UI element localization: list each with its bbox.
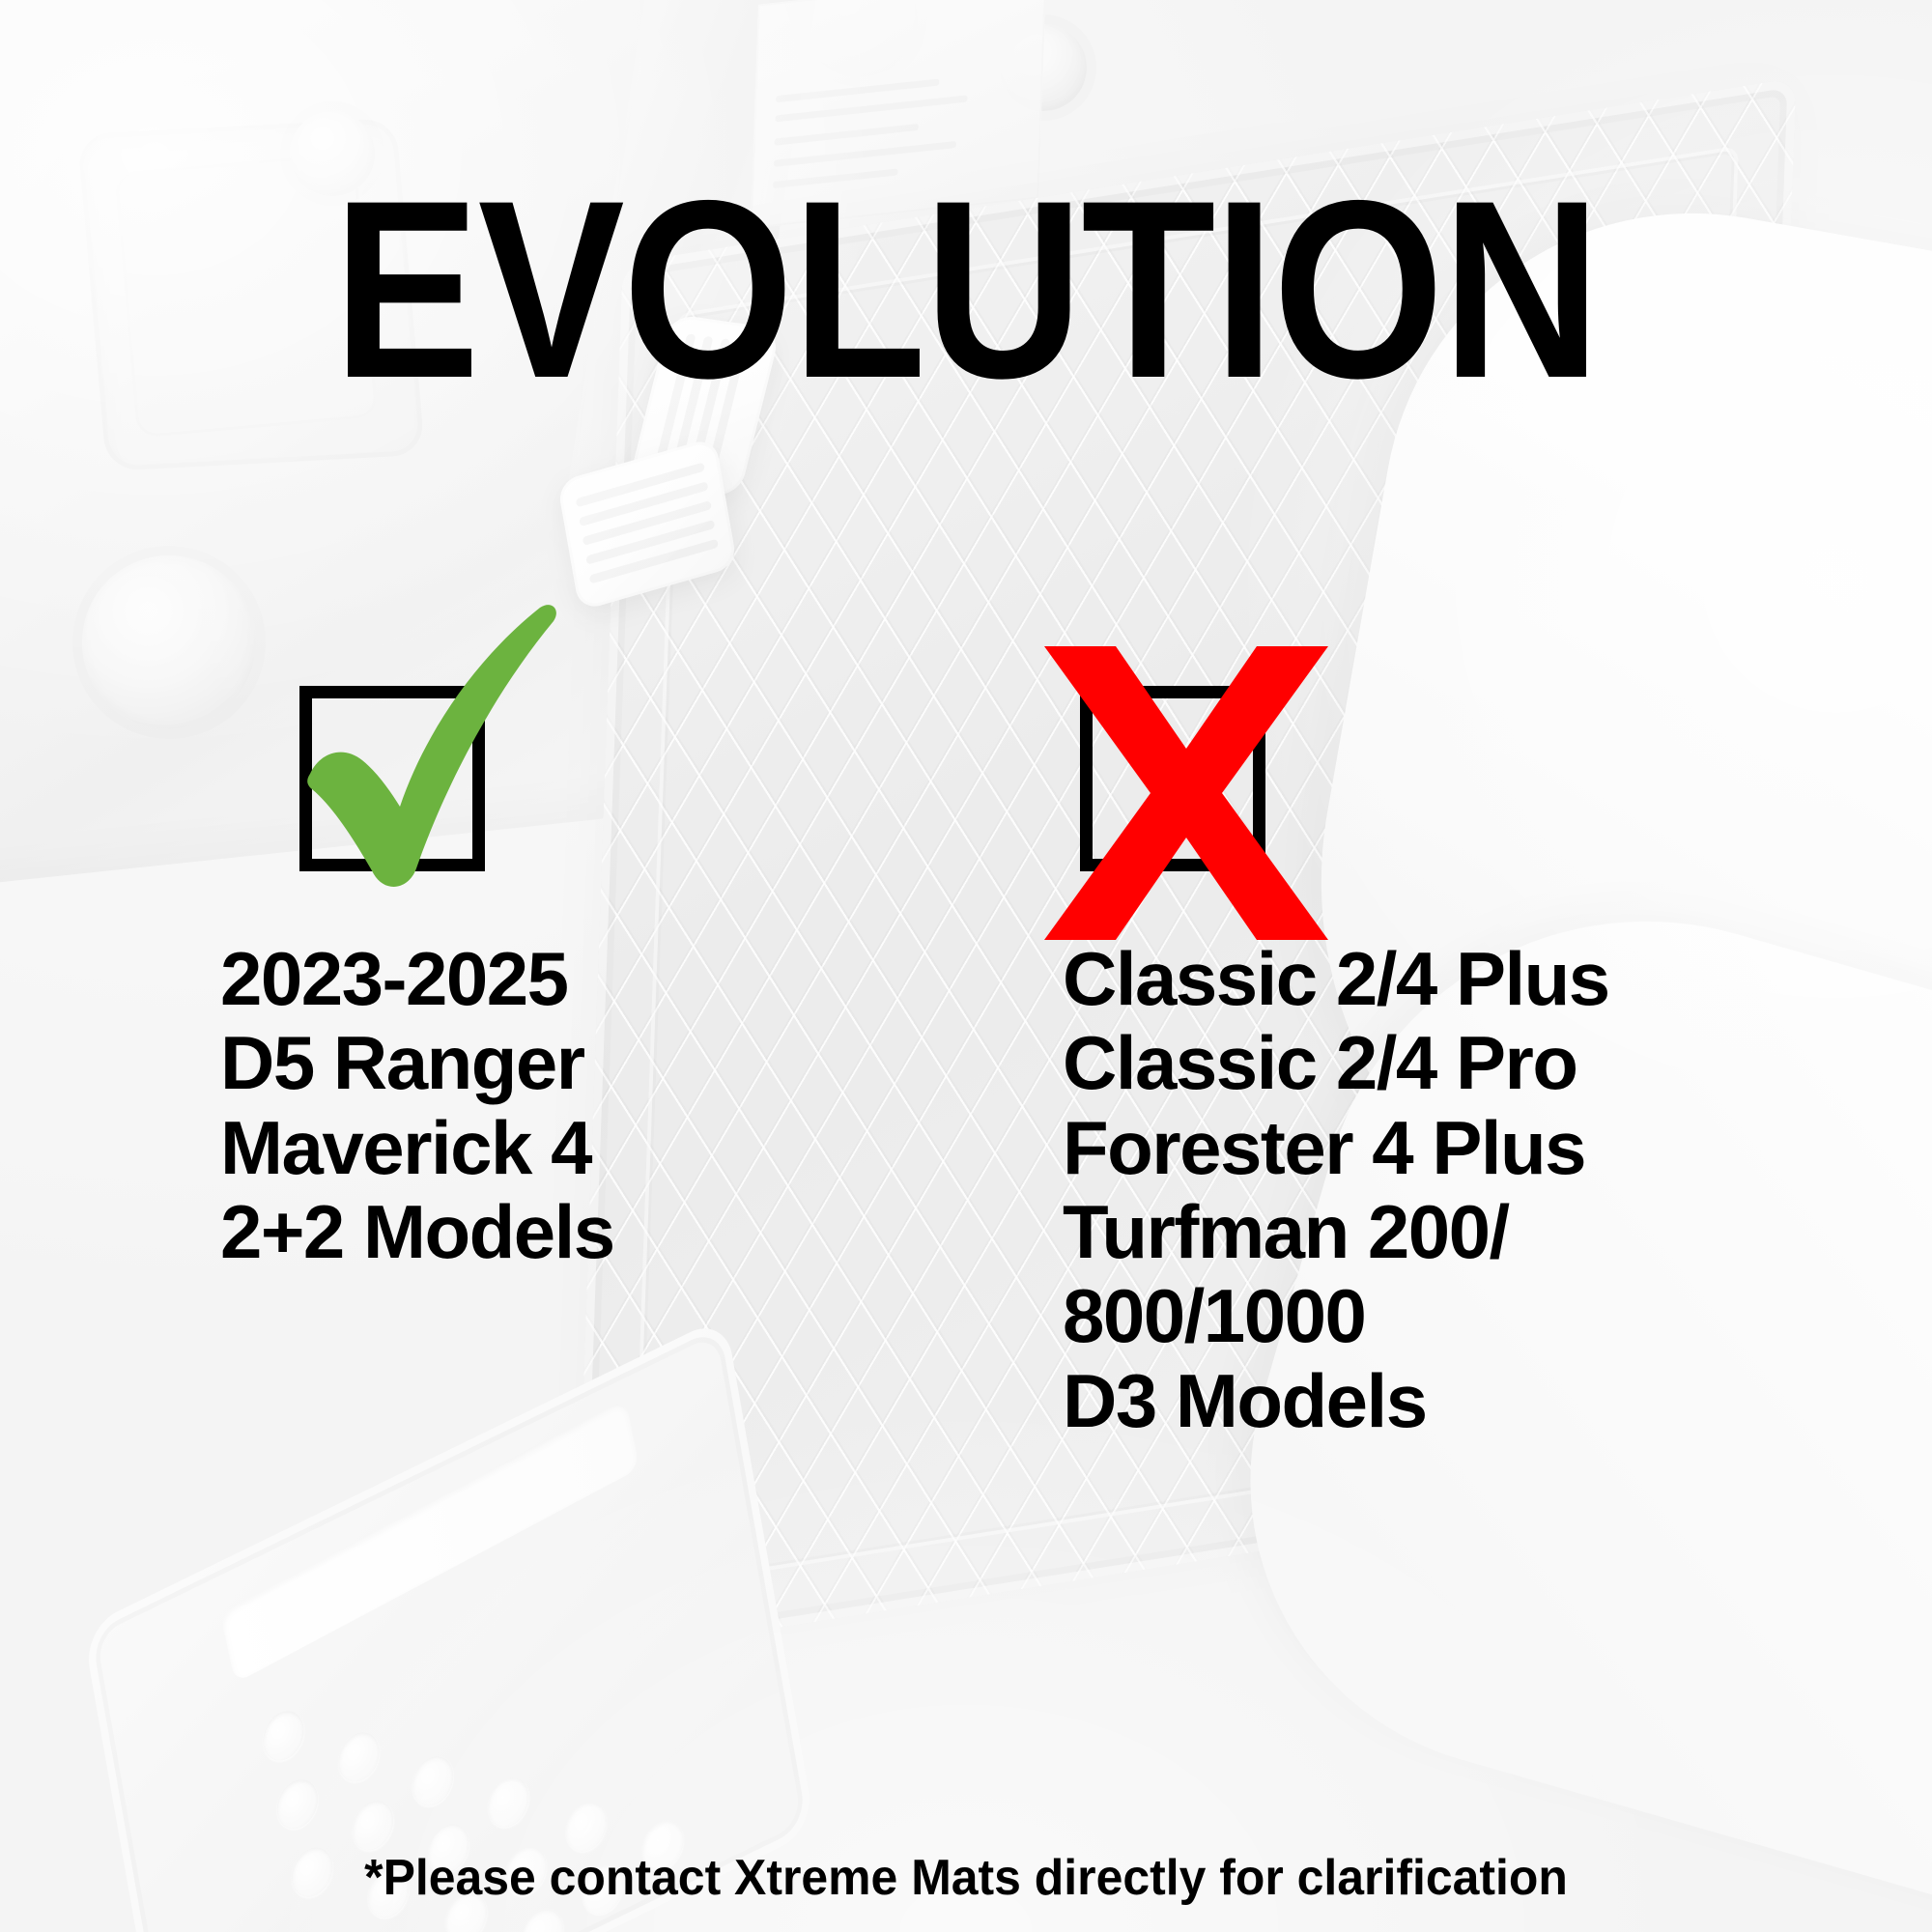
page-title: EVOLUTION bbox=[0, 162, 1932, 415]
compatible-model-list: 2023-2025 D5 Ranger Maverick 4 2+2 Model… bbox=[220, 937, 819, 1274]
incompatible-column: Classic 2/4 Plus Classic 2/4 Pro Foreste… bbox=[1063, 686, 1797, 1443]
incompatible-model-list: Classic 2/4 Plus Classic 2/4 Pro Foreste… bbox=[1063, 937, 1797, 1443]
model-line: D5 Ranger bbox=[220, 1021, 819, 1105]
model-line: Forester 4 Plus bbox=[1063, 1106, 1797, 1190]
model-line: 2023-2025 bbox=[220, 937, 819, 1021]
model-line: Maverick 4 bbox=[220, 1106, 819, 1190]
model-line: Classic 2/4 Plus bbox=[1063, 937, 1797, 1021]
checkbox-outline bbox=[299, 686, 485, 871]
model-line: 2+2 Models bbox=[220, 1190, 819, 1274]
red-x-icon bbox=[1027, 629, 1346, 948]
model-line: Turfman 200/ bbox=[1063, 1190, 1797, 1274]
green-check-icon bbox=[250, 590, 569, 909]
foreground-content: EVOLUTION 2023-2025 D5 Ranger Maverick 4… bbox=[0, 0, 1932, 1932]
model-line: D3 Models bbox=[1063, 1359, 1797, 1443]
x-box-outline bbox=[1080, 686, 1265, 871]
model-line: Classic 2/4 Pro bbox=[1063, 1021, 1797, 1105]
compatible-column: 2023-2025 D5 Ranger Maverick 4 2+2 Model… bbox=[220, 686, 819, 1274]
fitment-graphic-page: XTREME bbox=[0, 0, 1932, 1932]
model-line: 800/1000 bbox=[1063, 1274, 1797, 1358]
clarification-footnote: *Please contact Xtreme Mats directly for… bbox=[39, 1849, 1893, 1907]
